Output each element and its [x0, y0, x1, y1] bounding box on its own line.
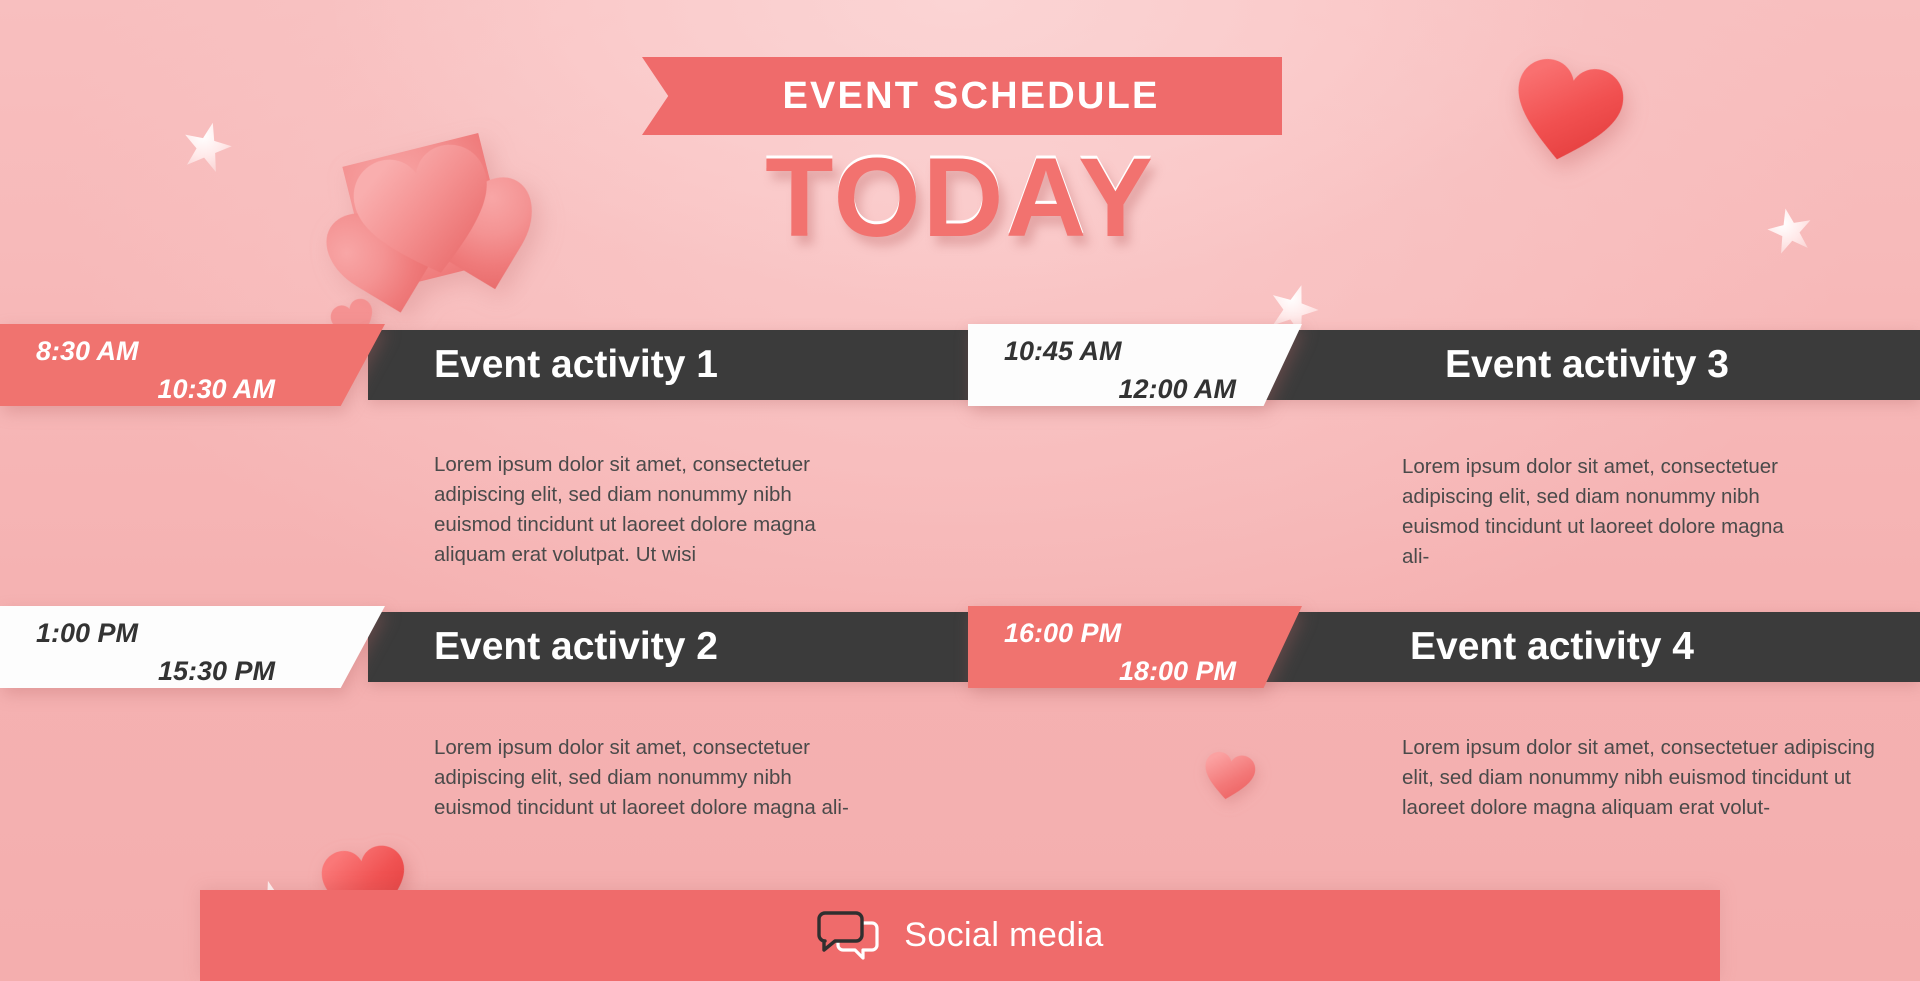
event-3-title-bar: Event activity 3 [1270, 330, 1920, 400]
event-2-title: Event activity 2 [434, 625, 718, 669]
event-4-time-lines: 16:00 PM 18:00 PM [968, 606, 1302, 688]
event-2-time-lines: 1:00 PM 15:30 PM [0, 606, 385, 688]
event-3-time-tag: 10:45 AM 12:00 AM [968, 324, 1302, 406]
event-4-end-time: 18:00 PM [1119, 658, 1236, 685]
chat-bubbles-icon [816, 910, 882, 962]
event-1-start-time: 8:30 AM [36, 338, 139, 365]
event-2-description: Lorem ipsum dolor sit amet, consectetuer… [434, 733, 868, 823]
event-4-title-bar: Event activity 4 [1238, 612, 1920, 682]
event-4-time-tag: 16:00 PM 18:00 PM [968, 606, 1302, 688]
event-1-description: Lorem ipsum dolor sit amet, consectetuer… [434, 450, 868, 571]
event-3-title: Event activity 3 [1445, 343, 1729, 387]
event-1-time-tag: 8:30 AM 10:30 AM [0, 324, 385, 406]
event-2-start-time: 1:00 PM [36, 620, 138, 647]
event-2-end-time: 15:30 PM [158, 658, 275, 685]
event-4-description: Lorem ipsum dolor sit amet, consectetuer… [1402, 733, 1892, 823]
social-media-label: Social media [904, 916, 1103, 955]
event-3-description: Lorem ipsum dolor sit amet, consectetuer… [1402, 452, 1802, 573]
poster-canvas: EVENT SCHEDULE TODAY Event activity 1 8:… [0, 0, 1920, 981]
event-3-start-time: 10:45 AM [1004, 338, 1122, 365]
event-1-title: Event activity 1 [434, 343, 718, 387]
event-1-time-lines: 8:30 AM 10:30 AM [0, 324, 385, 406]
schedule-grid: Event activity 1 8:30 AM 10:30 AM Lorem … [0, 0, 1920, 981]
event-4-start-time: 16:00 PM [1004, 620, 1121, 647]
event-3-time-lines: 10:45 AM 12:00 AM [968, 324, 1302, 406]
event-2-time-tag: 1:00 PM 15:30 PM [0, 606, 385, 688]
event-4-title: Event activity 4 [1410, 625, 1694, 669]
social-media-bar[interactable]: Social media [200, 890, 1720, 981]
event-1-end-time: 10:30 AM [157, 376, 275, 403]
event-3-end-time: 12:00 AM [1118, 376, 1236, 403]
